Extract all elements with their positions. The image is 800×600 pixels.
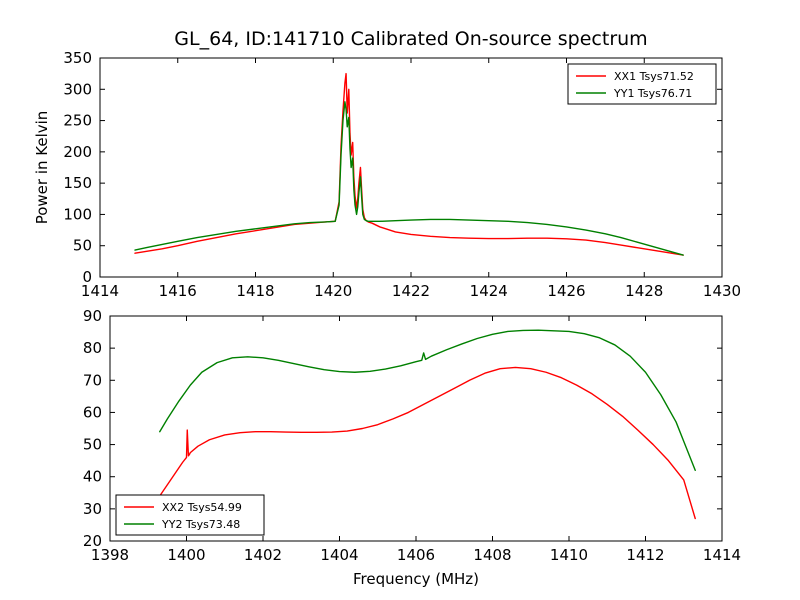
x-tick-label: 1420 (314, 282, 352, 300)
legend-label: YY1 Tsys76.71 (613, 87, 692, 100)
y-axis-title: Power in Kelvin (33, 111, 51, 225)
series-line-yy2 (160, 330, 696, 470)
y-tick-label: 30 (83, 500, 102, 518)
x-tick-label: 1404 (320, 546, 358, 564)
y-tick-label: 350 (63, 49, 92, 67)
x-tick-label: 1410 (550, 546, 588, 564)
y-tick-label: 50 (73, 237, 92, 255)
x-tick-label: 1426 (547, 282, 585, 300)
x-tick-label: 1412 (626, 546, 664, 564)
x-tick-label: 1416 (159, 282, 197, 300)
x-tick-label: 1406 (397, 546, 435, 564)
y-tick-label: 60 (83, 403, 102, 421)
x-tick-label: 1400 (167, 546, 205, 564)
legend-top-spectrum: XX1 Tsys71.52YY1 Tsys76.71 (568, 64, 716, 104)
y-tick-label: 70 (83, 371, 102, 389)
x-tick-label: 1414 (703, 546, 741, 564)
y-tick-label: 300 (63, 80, 92, 98)
y-tick-label: 0 (82, 268, 92, 286)
y-tick-label: 90 (83, 307, 102, 325)
x-tick-label: 1422 (392, 282, 430, 300)
y-tick-label: 20 (83, 532, 102, 550)
legend-bottom-spectrum: XX2 Tsys54.99YY2 Tsys73.48 (116, 495, 264, 535)
y-tick-label: 200 (63, 143, 92, 161)
x-tick-label: 1408 (473, 546, 511, 564)
plot-title: GL_64, ID:141710 Calibrated On-source sp… (174, 28, 647, 50)
legend-label: XX2 Tsys54.99 (162, 501, 242, 514)
spectrum-figure: 1414141614181420142214241426142814300501… (0, 0, 800, 600)
x-tick-label: 1428 (625, 282, 663, 300)
y-tick-label: 50 (83, 436, 102, 454)
x-tick-label: 1402 (244, 546, 282, 564)
x-tick-label: 1424 (470, 282, 508, 300)
axes-top-spectrum: 1414141614181420142214241426142814300501… (33, 28, 741, 300)
figure-canvas: 1414141614181420142214241426142814300501… (0, 0, 800, 600)
x-axis-title: Frequency (MHz) (353, 570, 479, 588)
y-tick-label: 150 (63, 174, 92, 192)
y-tick-label: 40 (83, 468, 102, 486)
y-tick-label: 100 (63, 205, 92, 223)
legend-label: XX1 Tsys71.52 (614, 70, 694, 83)
y-tick-label: 250 (63, 112, 92, 130)
data-layer-bottom-spectrum (160, 330, 696, 518)
legend-label: YY2 Tsys73.48 (161, 518, 240, 531)
y-tick-label: 80 (83, 339, 102, 357)
axes-bottom-spectrum: 1398140014021404140614081410141214142030… (83, 307, 741, 588)
series-line-yy1 (135, 102, 683, 255)
x-tick-label: 1418 (236, 282, 274, 300)
x-tick-label: 1430 (703, 282, 741, 300)
